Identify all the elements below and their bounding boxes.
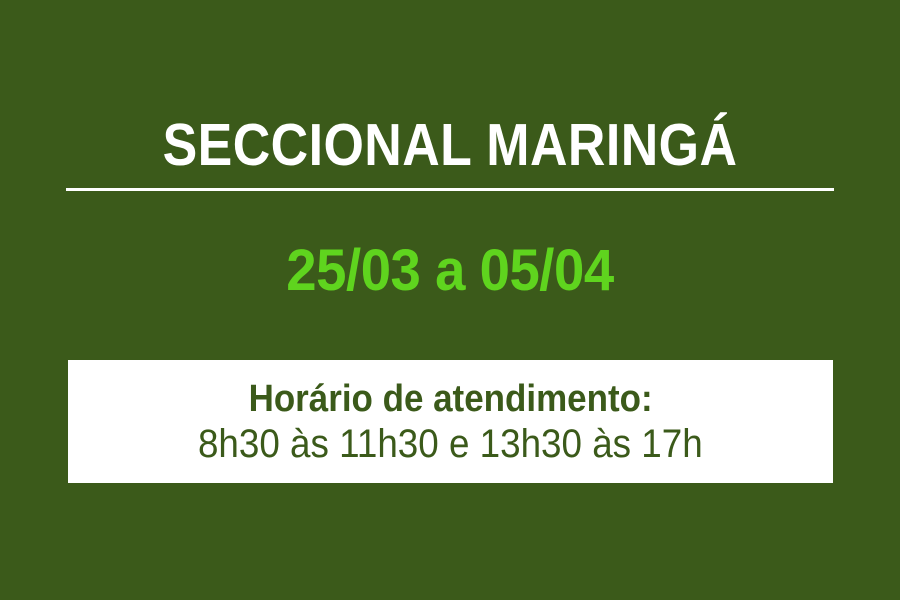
title-divider xyxy=(66,188,834,191)
page-title: SECCIONAL MARINGÁ xyxy=(54,112,846,178)
date-range-text: 25/03 a 05/04 xyxy=(27,238,873,304)
schedule-heading: Horário de atendimento: xyxy=(248,377,652,421)
date-block: 25/03 a 05/04 xyxy=(0,238,900,304)
poster-canvas: SECCIONAL MARINGÁ 25/03 a 05/04 Horário … xyxy=(0,0,900,600)
schedule-hours: 8h30 às 11h30 e 13h30 às 17h xyxy=(198,421,703,467)
info-panel: Horário de atendimento: 8h30 às 11h30 e … xyxy=(68,360,833,483)
title-block: SECCIONAL MARINGÁ xyxy=(0,112,900,178)
